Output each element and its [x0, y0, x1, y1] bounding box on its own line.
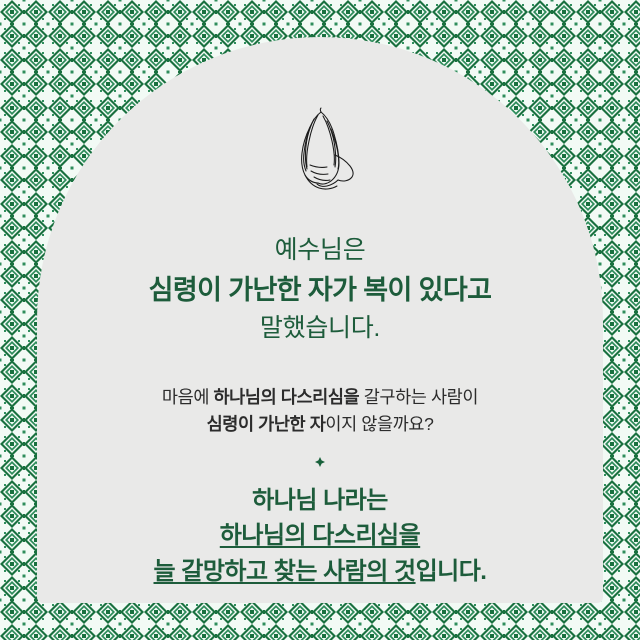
secondary-line-1: 마음에 하나님의 다스리심을 갈구하는 사람이: [67, 384, 573, 411]
primary-line-1: 예수님은: [67, 233, 573, 269]
secondary-line-2-part-b: 이지 않을까요?: [325, 414, 433, 434]
secondary-line-1-part-c: 갈구하는 사람이: [359, 387, 478, 407]
closing-line-2-underlined: 하나님의 다스리심을: [220, 522, 420, 549]
primary-text-block: 예수님은 심령이 가난한 자가 복이 있다고 말했습니다.: [67, 233, 573, 346]
closing-line-3: 늘 갈망하고 찾는 사람의 것입니다.: [67, 554, 573, 590]
primary-line-2: 심령이 가난한 자가 복이 있다고: [67, 271, 573, 309]
content-area: 예수님은 심령이 가난한 자가 복이 있다고 말했습니다. 마음에 하나님의 다…: [37, 233, 603, 589]
secondary-text-block: 마음에 하나님의 다스리심을 갈구하는 사람이 심령이 가난한 자이지 않을까요…: [67, 384, 573, 438]
secondary-line-2-part-a: 심령이 가난한 자: [207, 414, 326, 434]
closing-line-1: 하나님 나라는: [67, 483, 573, 519]
devotional-card: HIS KINGDOM COME: [0, 0, 640, 640]
primary-line-3: 말했습니다.: [67, 311, 573, 347]
arch-panel: HIS KINGDOM COME: [37, 37, 603, 603]
secondary-line-1-part-b: 하나님의 다스리심을: [213, 387, 359, 407]
logo-block: HIS KINGDOM COME: [37, 71, 603, 191]
praying-hands-icon: [277, 103, 363, 191]
secondary-line-2: 심령이 가난한 자이지 않을까요?: [67, 411, 573, 438]
closing-line-3-plain: 입니다.: [416, 558, 487, 585]
secondary-line-1-part-a: 마음에: [162, 387, 214, 407]
closing-text-block: 하나님 나라는 하나님의 다스리심을 늘 갈망하고 찾는 사람의 것입니다.: [67, 483, 573, 590]
closing-line-3-underlined: 늘 갈망하고 찾는 사람의 것: [154, 558, 416, 585]
diamond-ornament-icon: [315, 457, 325, 467]
closing-line-2: 하나님의 다스리심을: [67, 518, 573, 554]
